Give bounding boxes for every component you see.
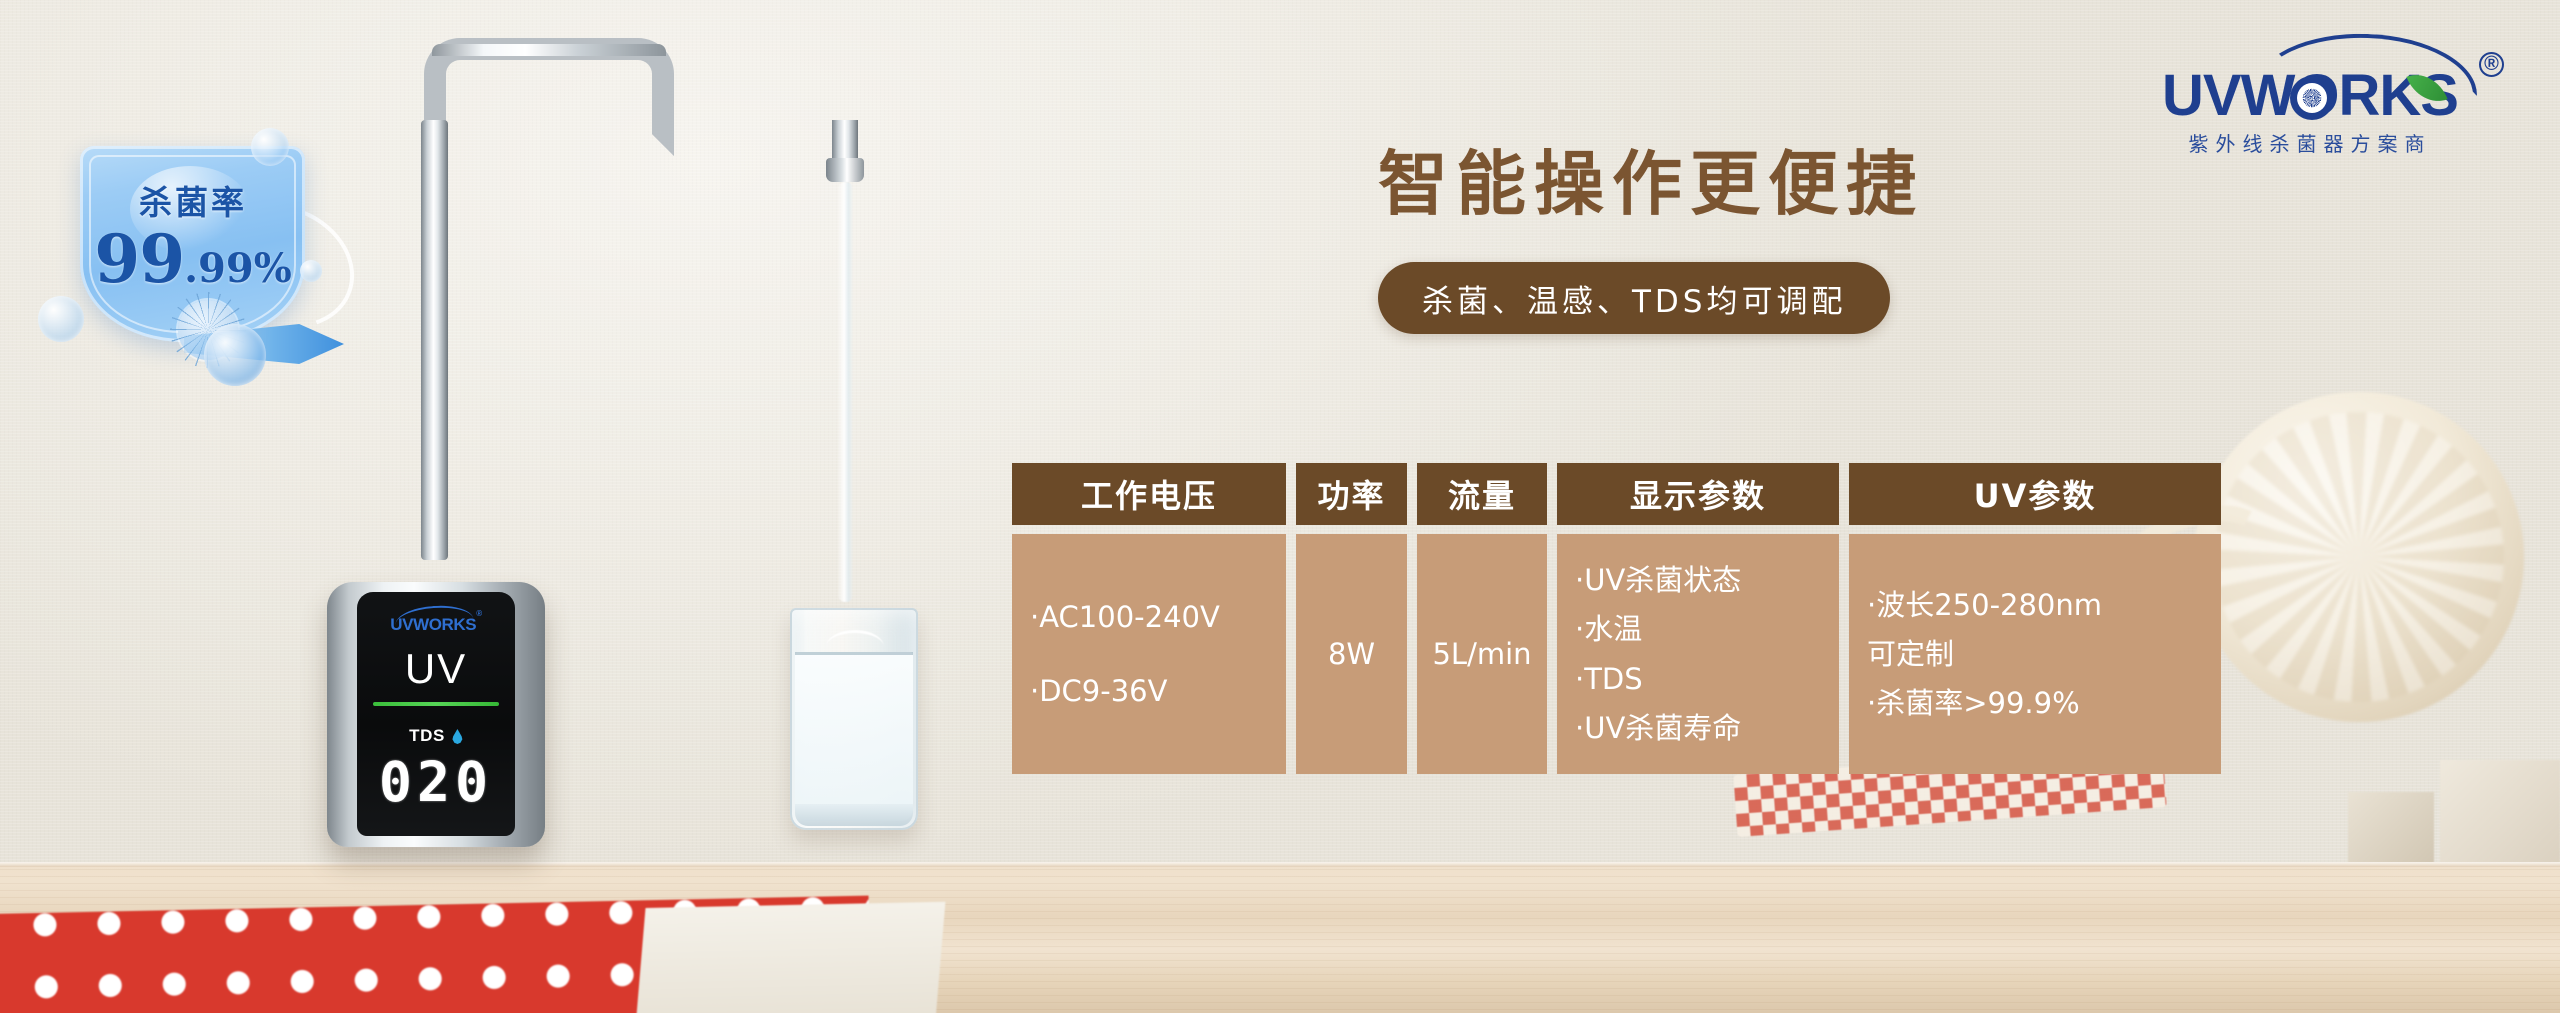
sunburst-icon (2290, 76, 2334, 120)
spec-column-header: 显示参数 (1557, 463, 1839, 525)
spec-cell-line: 可定制 (1867, 636, 2203, 672)
spec-cell-line: 5L/min (1432, 636, 1531, 672)
device-display-screen: UVWORKS® UV TDS 020 (357, 592, 515, 836)
brand-logo: UVWORKS ® 紫外线杀菌器方案商 (2110, 28, 2510, 146)
device-brand-logo: UVWORKS® (357, 615, 515, 635)
device-logo-registered: ® (476, 609, 482, 618)
faucet-arm (424, 38, 674, 156)
feature-pill: 杀菌、温感、TDS均可调配 (1378, 262, 1890, 334)
spec-column-body: ·波长250-280nm 可定制 ·杀菌率>99.9% (1849, 534, 2221, 774)
glass-water-fill (795, 652, 913, 821)
spec-column-body: ·UV杀菌状态 ·水温 ·TDS ·UV杀菌寿命 (1557, 534, 1839, 774)
spec-cell-line: 8W (1328, 636, 1375, 672)
spec-column-body: 8W (1296, 534, 1407, 774)
bubble-icon (251, 128, 289, 166)
spec-cell-line: ·UV杀菌寿命 (1575, 710, 1821, 746)
faucet-column (421, 120, 448, 560)
water-glass (790, 608, 918, 830)
spec-cell-line: ·AC100-240V (1030, 599, 1268, 635)
spec-column-header: 流量 (1417, 463, 1547, 525)
spec-cell-line: ·波长250-280nm (1867, 587, 2203, 623)
water-drop-icon (452, 729, 463, 744)
bubble-icon (204, 324, 266, 386)
badge-value: 99.99% (38, 220, 348, 298)
glass-base (795, 804, 913, 826)
spec-column-header: 功率 (1296, 463, 1407, 525)
device-tds-label: TDS (357, 726, 515, 746)
water-stream (838, 182, 853, 602)
spec-cell-line: ·杀菌率>99.9% (1867, 685, 2203, 721)
registered-trademark-icon: ® (2479, 52, 2504, 77)
uv-sterilizer-device: UVWORKS® UV TDS 020 (327, 582, 545, 847)
spec-column-body: 5L/min (1417, 534, 1547, 774)
spec-cell-line: ·水温 (1575, 611, 1821, 647)
badge-label: 杀菌率 (38, 176, 348, 224)
counter-edge (0, 862, 2560, 867)
spec-cell-line: ·UV杀菌状态 (1575, 562, 1821, 598)
spec-cell-line: ·TDS (1575, 661, 1821, 697)
spec-column-header: 工作电压 (1012, 463, 1286, 525)
sterilization-rate-badge: 杀菌率 99.99% (38, 128, 348, 358)
faucet-spout-neck (832, 120, 858, 162)
page-title: 智能操作更便捷 (1378, 128, 1924, 229)
spec-column-flow-rate: 流量 5L/min (1417, 463, 1547, 774)
device-tds-value: 020 (357, 750, 515, 814)
spec-column-display-params: 显示参数 ·UV杀菌状态 ·水温 ·TDS ·UV杀菌寿命 (1557, 463, 1839, 774)
spec-column-power: 功率 8W (1296, 463, 1407, 774)
device-mode-label: UV (357, 645, 515, 693)
spec-cell-line: ·DC9-36V (1030, 673, 1268, 709)
spec-column-body: ·AC100-240V ·DC9-36V (1012, 534, 1286, 774)
badge-value-minor: .99% (184, 245, 292, 292)
device-status-bar (373, 702, 499, 706)
device-tds-text: TDS (409, 726, 445, 745)
spec-table: 工作电压 ·AC100-240V ·DC9-36V 功率 8W 流量 5L/mi… (1012, 463, 2221, 774)
bubble-icon (38, 296, 84, 342)
brand-tagline: 紫外线杀菌器方案商 (2110, 128, 2510, 157)
badge-value-major: 99 (94, 220, 184, 298)
water-splash (826, 630, 884, 664)
faucet-spout-tip (826, 158, 864, 182)
spec-column-header: UV参数 (1849, 463, 2221, 525)
spec-column-working-voltage: 工作电压 ·AC100-240V ·DC9-36V (1012, 463, 1286, 774)
polka-dot-cloth-fold (635, 902, 946, 1013)
spec-column-uv-params: UV参数 ·波长250-280nm 可定制 ·杀菌率>99.9% (1849, 463, 2221, 774)
